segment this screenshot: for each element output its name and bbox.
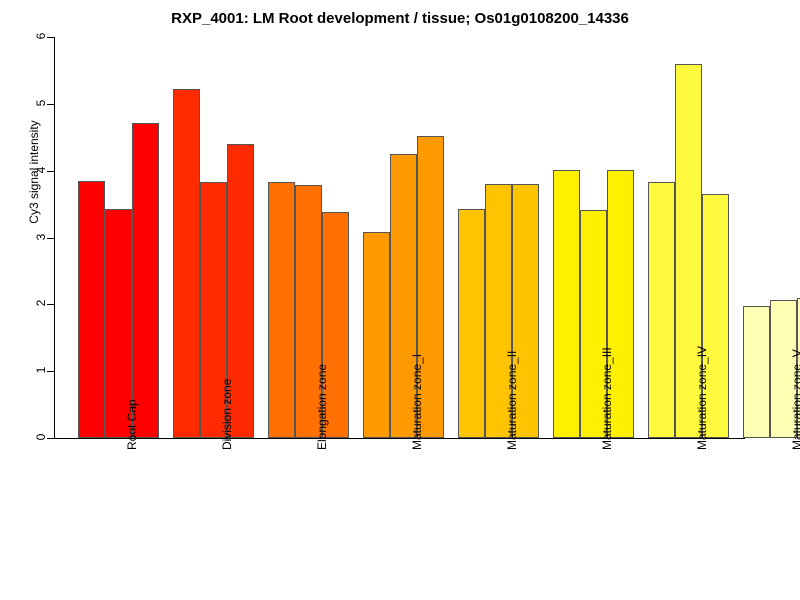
x-axis-category-label: Maturation zone_I bbox=[410, 354, 424, 450]
bar bbox=[78, 181, 105, 438]
bar bbox=[173, 89, 200, 438]
bar bbox=[458, 209, 485, 438]
x-axis-category-label: Elongation zone bbox=[315, 364, 329, 450]
bar bbox=[743, 306, 770, 438]
bar bbox=[268, 182, 295, 438]
bars-layer bbox=[0, 0, 800, 600]
bar bbox=[553, 170, 580, 438]
bar-chart: RXP_4001: LM Root development / tissue; … bbox=[0, 0, 800, 600]
x-axis-category-label: Maturation zone_III bbox=[600, 347, 614, 450]
x-axis-category-label: Maturation zone_V bbox=[790, 349, 800, 450]
bar bbox=[648, 182, 675, 438]
bar bbox=[363, 232, 390, 439]
x-axis-category-label: Root Cap bbox=[125, 399, 139, 450]
x-axis-category-label: Maturation zone_IV bbox=[695, 346, 709, 450]
x-axis-category-label: Division zone bbox=[220, 379, 234, 450]
bar bbox=[132, 123, 159, 438]
x-axis-category-label: Maturation zone_II bbox=[505, 351, 519, 450]
